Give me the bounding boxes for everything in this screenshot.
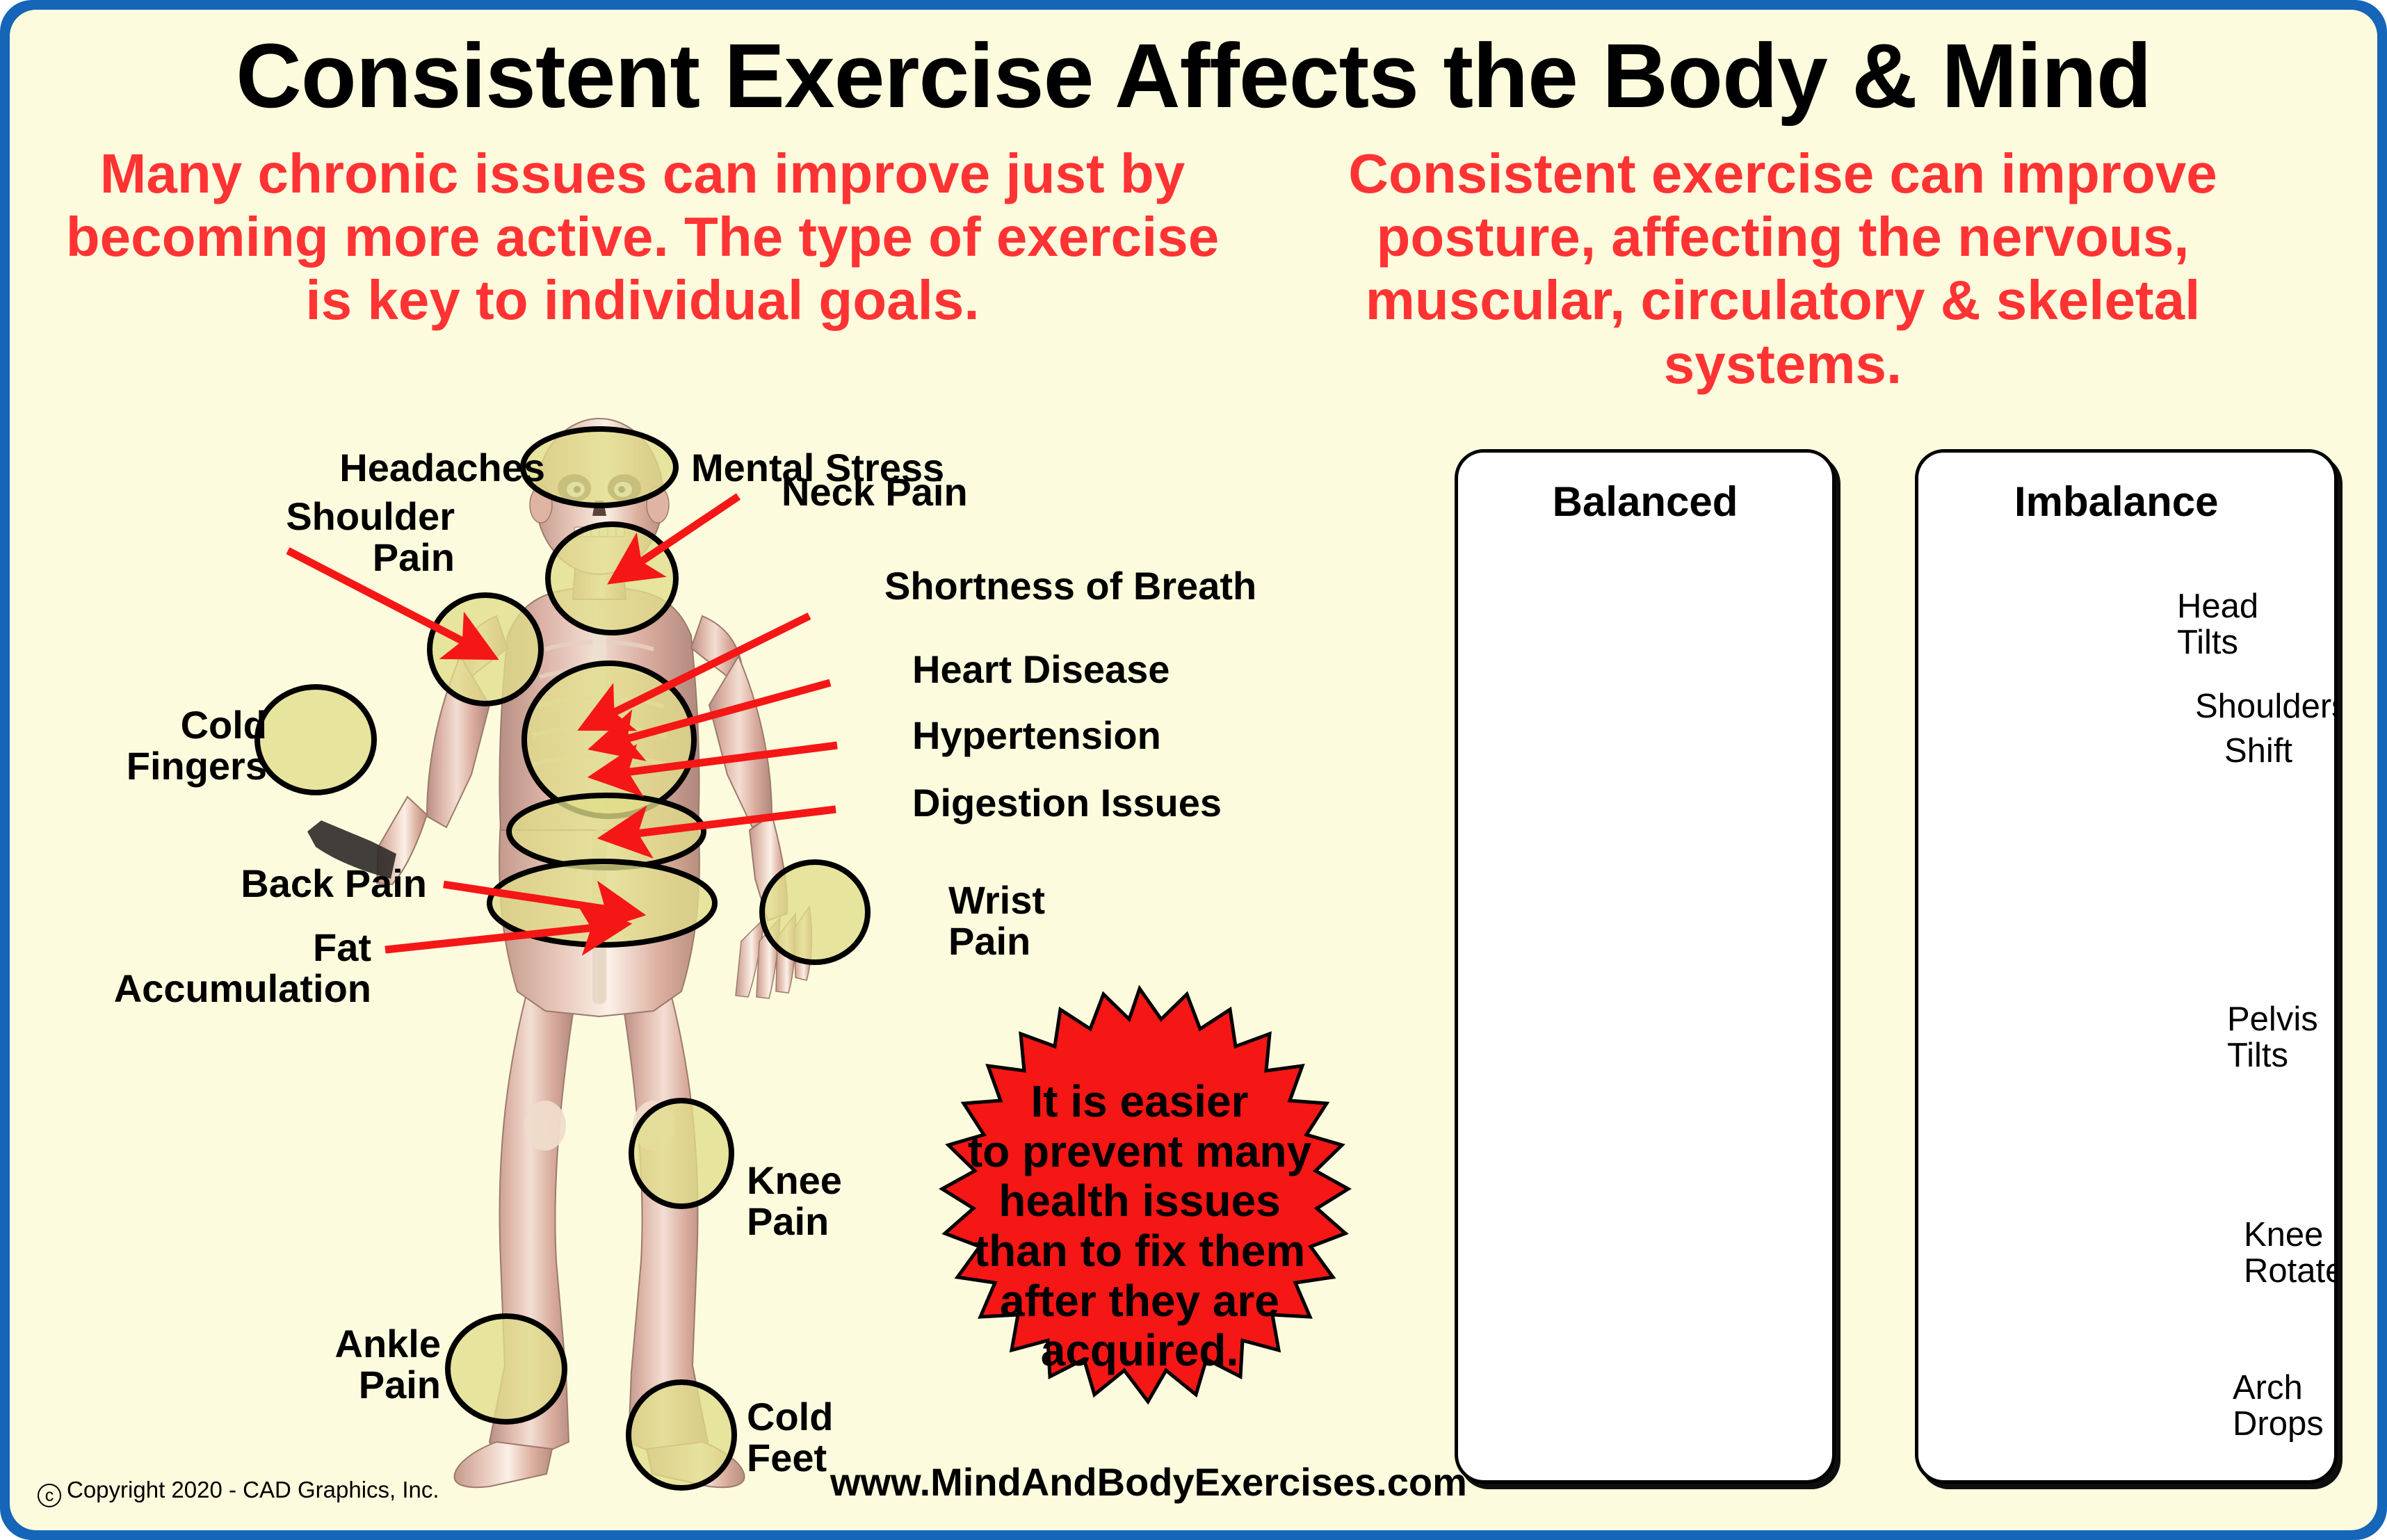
- zone-pelvis: [489, 861, 715, 945]
- arrow-neck-pain: [616, 496, 738, 578]
- zone-abdomen: [509, 795, 704, 868]
- callout-line-2: to prevent many: [968, 1127, 1311, 1177]
- zone-wrist: [762, 862, 868, 962]
- zone-cold-feet: [629, 1382, 734, 1488]
- label-arch-drops: Arch Drops: [2233, 1370, 2324, 1443]
- panel-imbalance: Imbalance Head Tilts Shoulders Shift Pel…: [1915, 449, 2338, 1484]
- website-url[interactable]: www.MindAndBodyExercises.com: [830, 1459, 1456, 1505]
- prevention-callout-text: It is easier to prevent many health issu…: [882, 983, 1397, 1470]
- copyright-icon: c: [38, 1484, 61, 1507]
- callout-line-6: acquired.: [1041, 1326, 1239, 1376]
- copyright-text: Copyright 2020 - CAD Graphics, Inc.: [67, 1477, 439, 1502]
- zone-shoulder: [430, 595, 541, 704]
- label-knee-rotates: Knee Rotates: [2244, 1217, 2338, 1290]
- arrow-fat-accumulation: [385, 925, 622, 950]
- label-cold-fingers: Cold Fingers: [10, 705, 267, 787]
- callout-line-4: than to fix them: [974, 1226, 1305, 1276]
- zone-headaches: [523, 429, 676, 505]
- label-ankle-pain: Ankle Pain: [10, 1324, 441, 1406]
- panel-imbalance-title: Imbalance: [1918, 478, 2334, 526]
- label-shoulders-shift-line1: Shoulders: [2195, 689, 2338, 725]
- zone-ankle: [448, 1316, 565, 1422]
- label-pelvis-tilts: Pelvis Tilts: [2227, 1002, 2318, 1074]
- poster-frame: Consistent Exercise Affects the Body & M…: [0, 0, 2387, 1540]
- label-shoulders-shift-line2: Shift: [2224, 733, 2292, 770]
- zone-chest: [524, 663, 694, 816]
- copyright-notice: cCopyright 2020 - CAD Graphics, Inc.: [38, 1477, 439, 1507]
- label-shoulder-pain: Shoulder Pain: [51, 496, 455, 578]
- label-shortness-of-breath: Shortness of Breath: [884, 566, 1441, 607]
- subhead-left: Many chronic issues can improve just by …: [51, 142, 1233, 332]
- callout-line-3: health issues: [998, 1176, 1281, 1226]
- subhead-right: Consistent exercise can improve posture,…: [1289, 142, 2276, 396]
- callout-line-1: It is easier: [1030, 1077, 1248, 1127]
- label-headaches: Headaches: [114, 448, 545, 489]
- label-head-tilts: Head Tilts: [2177, 589, 2258, 661]
- arrow-shortness-of-breath: [587, 616, 809, 726]
- label-digestion-issues: Digestion Issues: [912, 783, 1441, 824]
- arrow-hypertension: [598, 745, 837, 776]
- callout-line-5: after they are: [1000, 1276, 1279, 1327]
- page-title: Consistent Exercise Affects the Body & M…: [10, 29, 2377, 122]
- zone-neck: [548, 524, 676, 633]
- poster-canvas: Consistent Exercise Affects the Body & M…: [10, 10, 2377, 1530]
- arrow-back-pain: [444, 884, 636, 914]
- label-heart-disease: Heart Disease: [912, 649, 1399, 690]
- label-wrist-pain: Wrist Pain: [948, 880, 1240, 962]
- panel-balanced-title: Balanced: [1458, 478, 1832, 526]
- prevention-callout: It is easier to prevent many health issu…: [882, 983, 1397, 1470]
- label-neck-pain: Neck Pain: [782, 472, 1213, 513]
- label-back-pain: Back Pain: [10, 864, 427, 905]
- arrow-heart-disease: [598, 683, 830, 747]
- zone-knee: [631, 1101, 731, 1206]
- panel-balanced: Balanced: [1455, 449, 1836, 1484]
- label-fat-accumulation: Fat Accumulation: [10, 927, 371, 1010]
- zone-cold-fingers: [257, 687, 374, 793]
- arrow-digestion-issues: [608, 809, 836, 837]
- label-hypertension: Hypertension: [912, 715, 1399, 756]
